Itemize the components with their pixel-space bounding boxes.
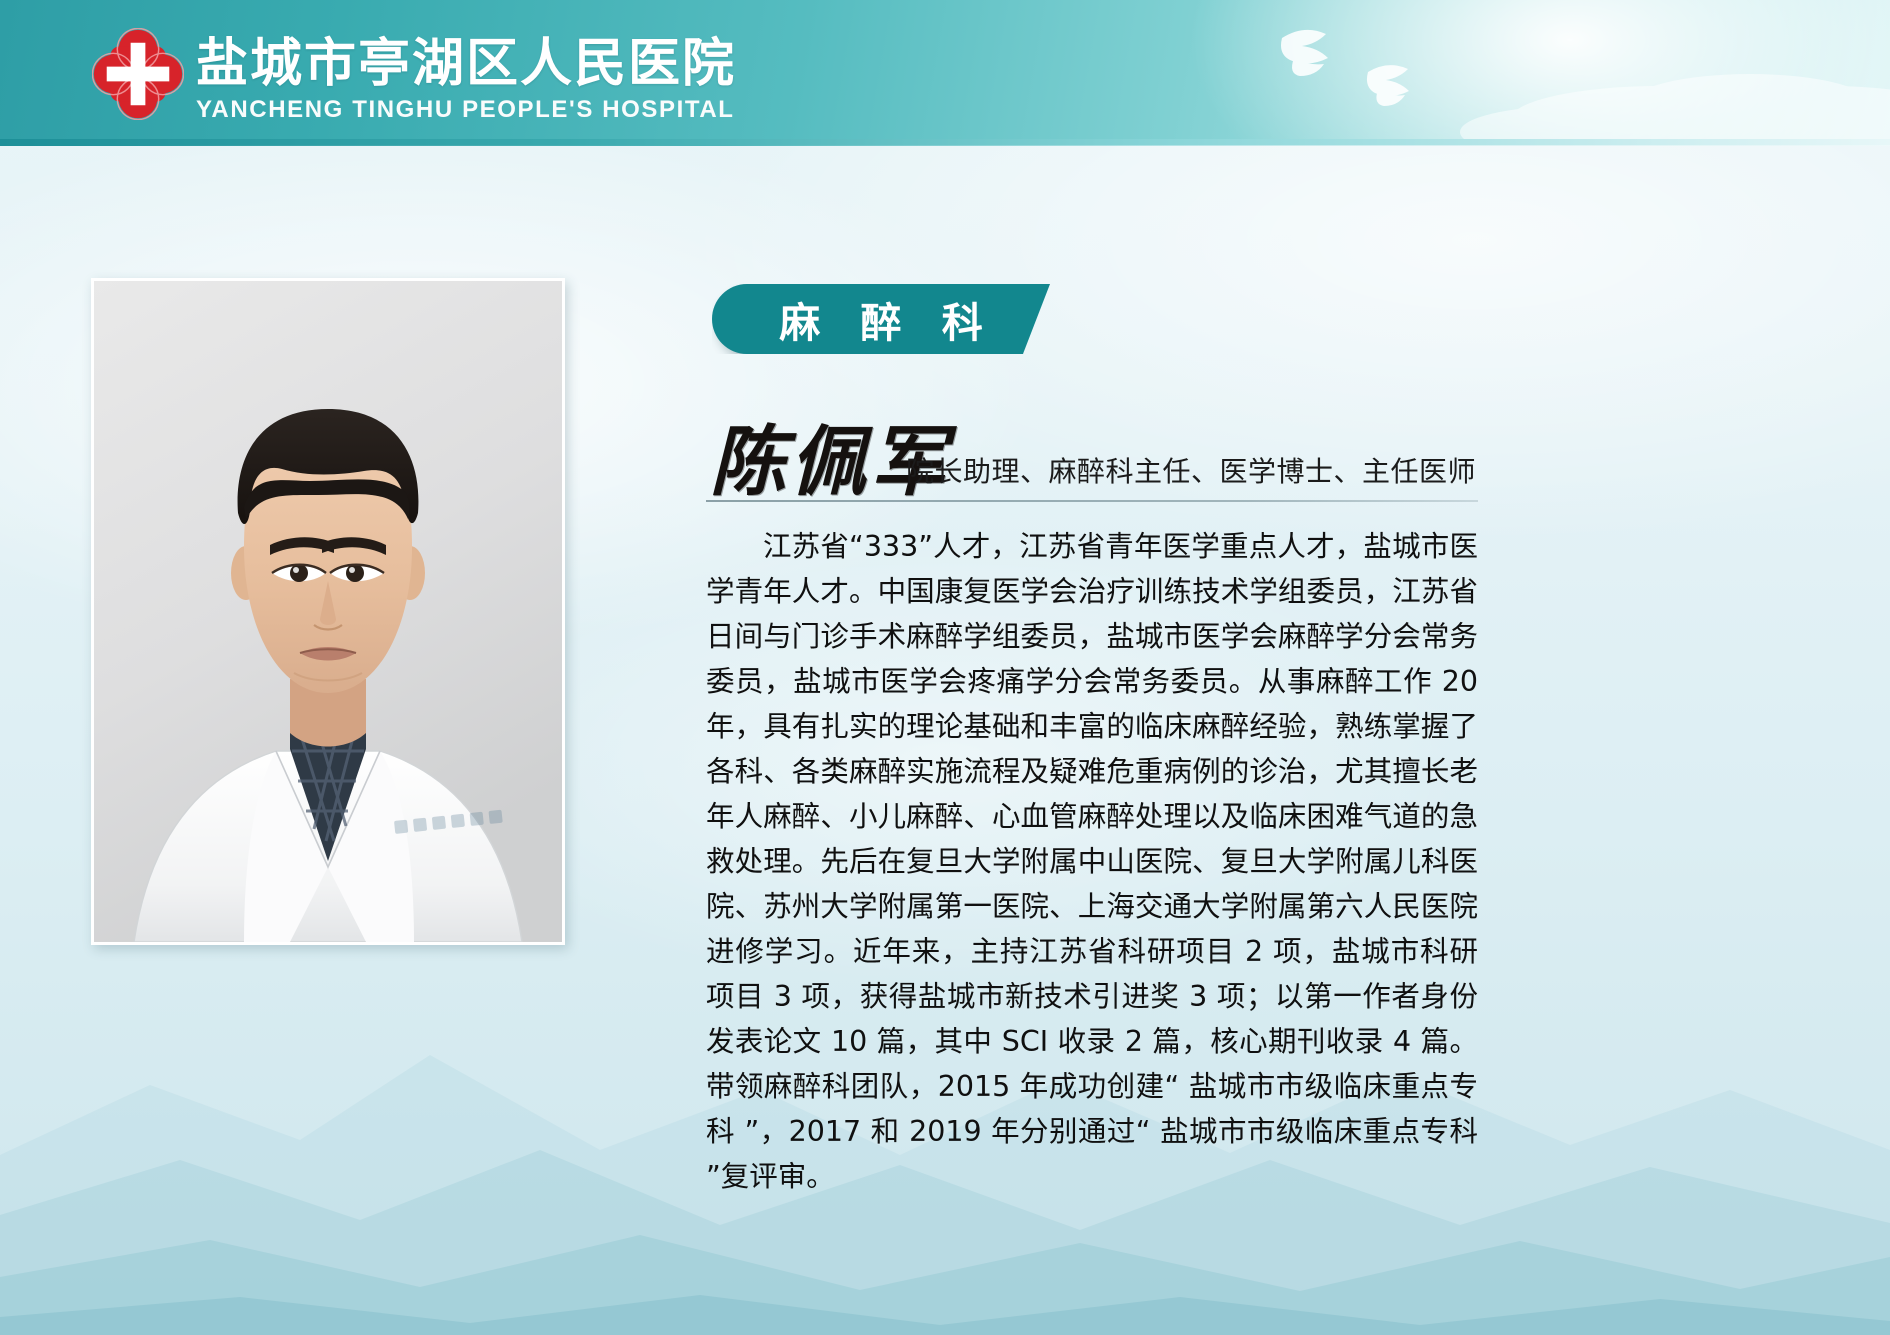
department-banner: 麻 醉 科: [712, 284, 1050, 354]
header-divider: [0, 139, 1890, 146]
doctor-portrait-photo: [94, 281, 562, 942]
doctor-biography: 江苏省“333”人才，江苏省青年医学重点人才，盐城市医学青年人才。中国康复医学会…: [706, 524, 1478, 1199]
hospital-name-en: YANCHENG TINGHU PEOPLE'S HOSPITAL: [196, 96, 736, 124]
brand-block: 盐城市亭湖区人民医院 YANCHENG TINGHU PEOPLE'S HOSP…: [196, 36, 736, 124]
page-header: 盐城市亭湖区人民医院 YANCHENG TINGHU PEOPLE'S HOSP…: [0, 0, 1890, 146]
doctor-name-row: 陈佩军 院长助理、麻醉科主任、医学博士、主任医师: [706, 408, 1476, 496]
doctor-portrait-frame: [91, 278, 565, 945]
red-medical-cross-logo-icon: [92, 28, 184, 120]
biography-paragraph: 江苏省“333”人才，江苏省青年医学重点人才，盐城市医学青年人才。中国康复医学会…: [706, 524, 1478, 1199]
doctor-titles: 院长助理、麻醉科主任、医学博士、主任医师: [906, 450, 1476, 490]
department-label: 麻 醉 科: [766, 289, 996, 349]
flying-doves-and-clouds-icon: [1190, 0, 1890, 146]
hospital-name-cn: 盐城市亭湖区人民医院: [196, 36, 736, 92]
name-divider: [706, 500, 1478, 502]
doctor-profile-poster: 盐城市亭湖区人民医院 YANCHENG TINGHU PEOPLE'S HOSP…: [0, 0, 1890, 1335]
